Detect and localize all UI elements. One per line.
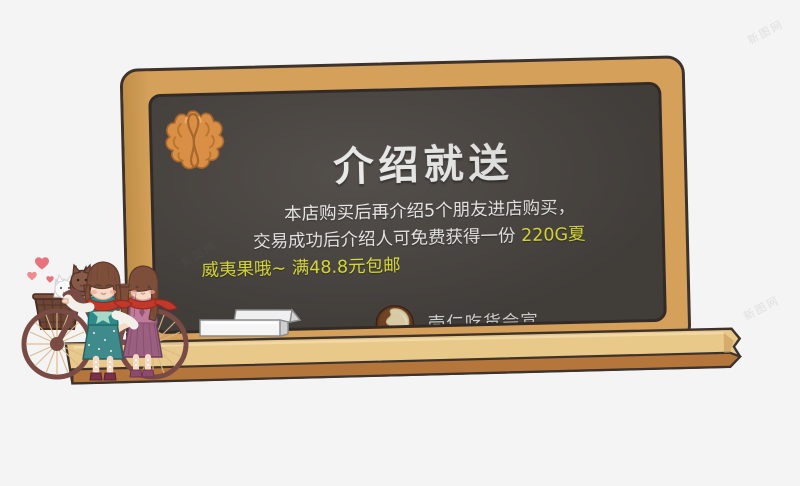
watermark-mark-topright: 新图网 <box>745 16 787 48</box>
poster-canvas: 介绍就送 本店购买后再介绍5个朋友进店购买， 交易成功后介绍人可免费获得一份 2… <box>0 0 800 486</box>
chalk-stick-icon <box>196 306 306 342</box>
heart-icon <box>27 257 54 282</box>
promo-line-2-plain: 交易成功后介绍人可免费获得一份 <box>253 226 516 252</box>
promo-line-2-highlight: 220G夏 <box>521 225 586 247</box>
promo-body-text: 本店购买后再介绍5个朋友进店购买， 交易成功后介绍人可免费获得一份 220G夏 … <box>198 193 641 285</box>
bicycle-illustration <box>10 237 200 382</box>
watermark-mark-right: 新图网 <box>741 292 783 324</box>
walnut-kernel-icon <box>152 103 236 187</box>
